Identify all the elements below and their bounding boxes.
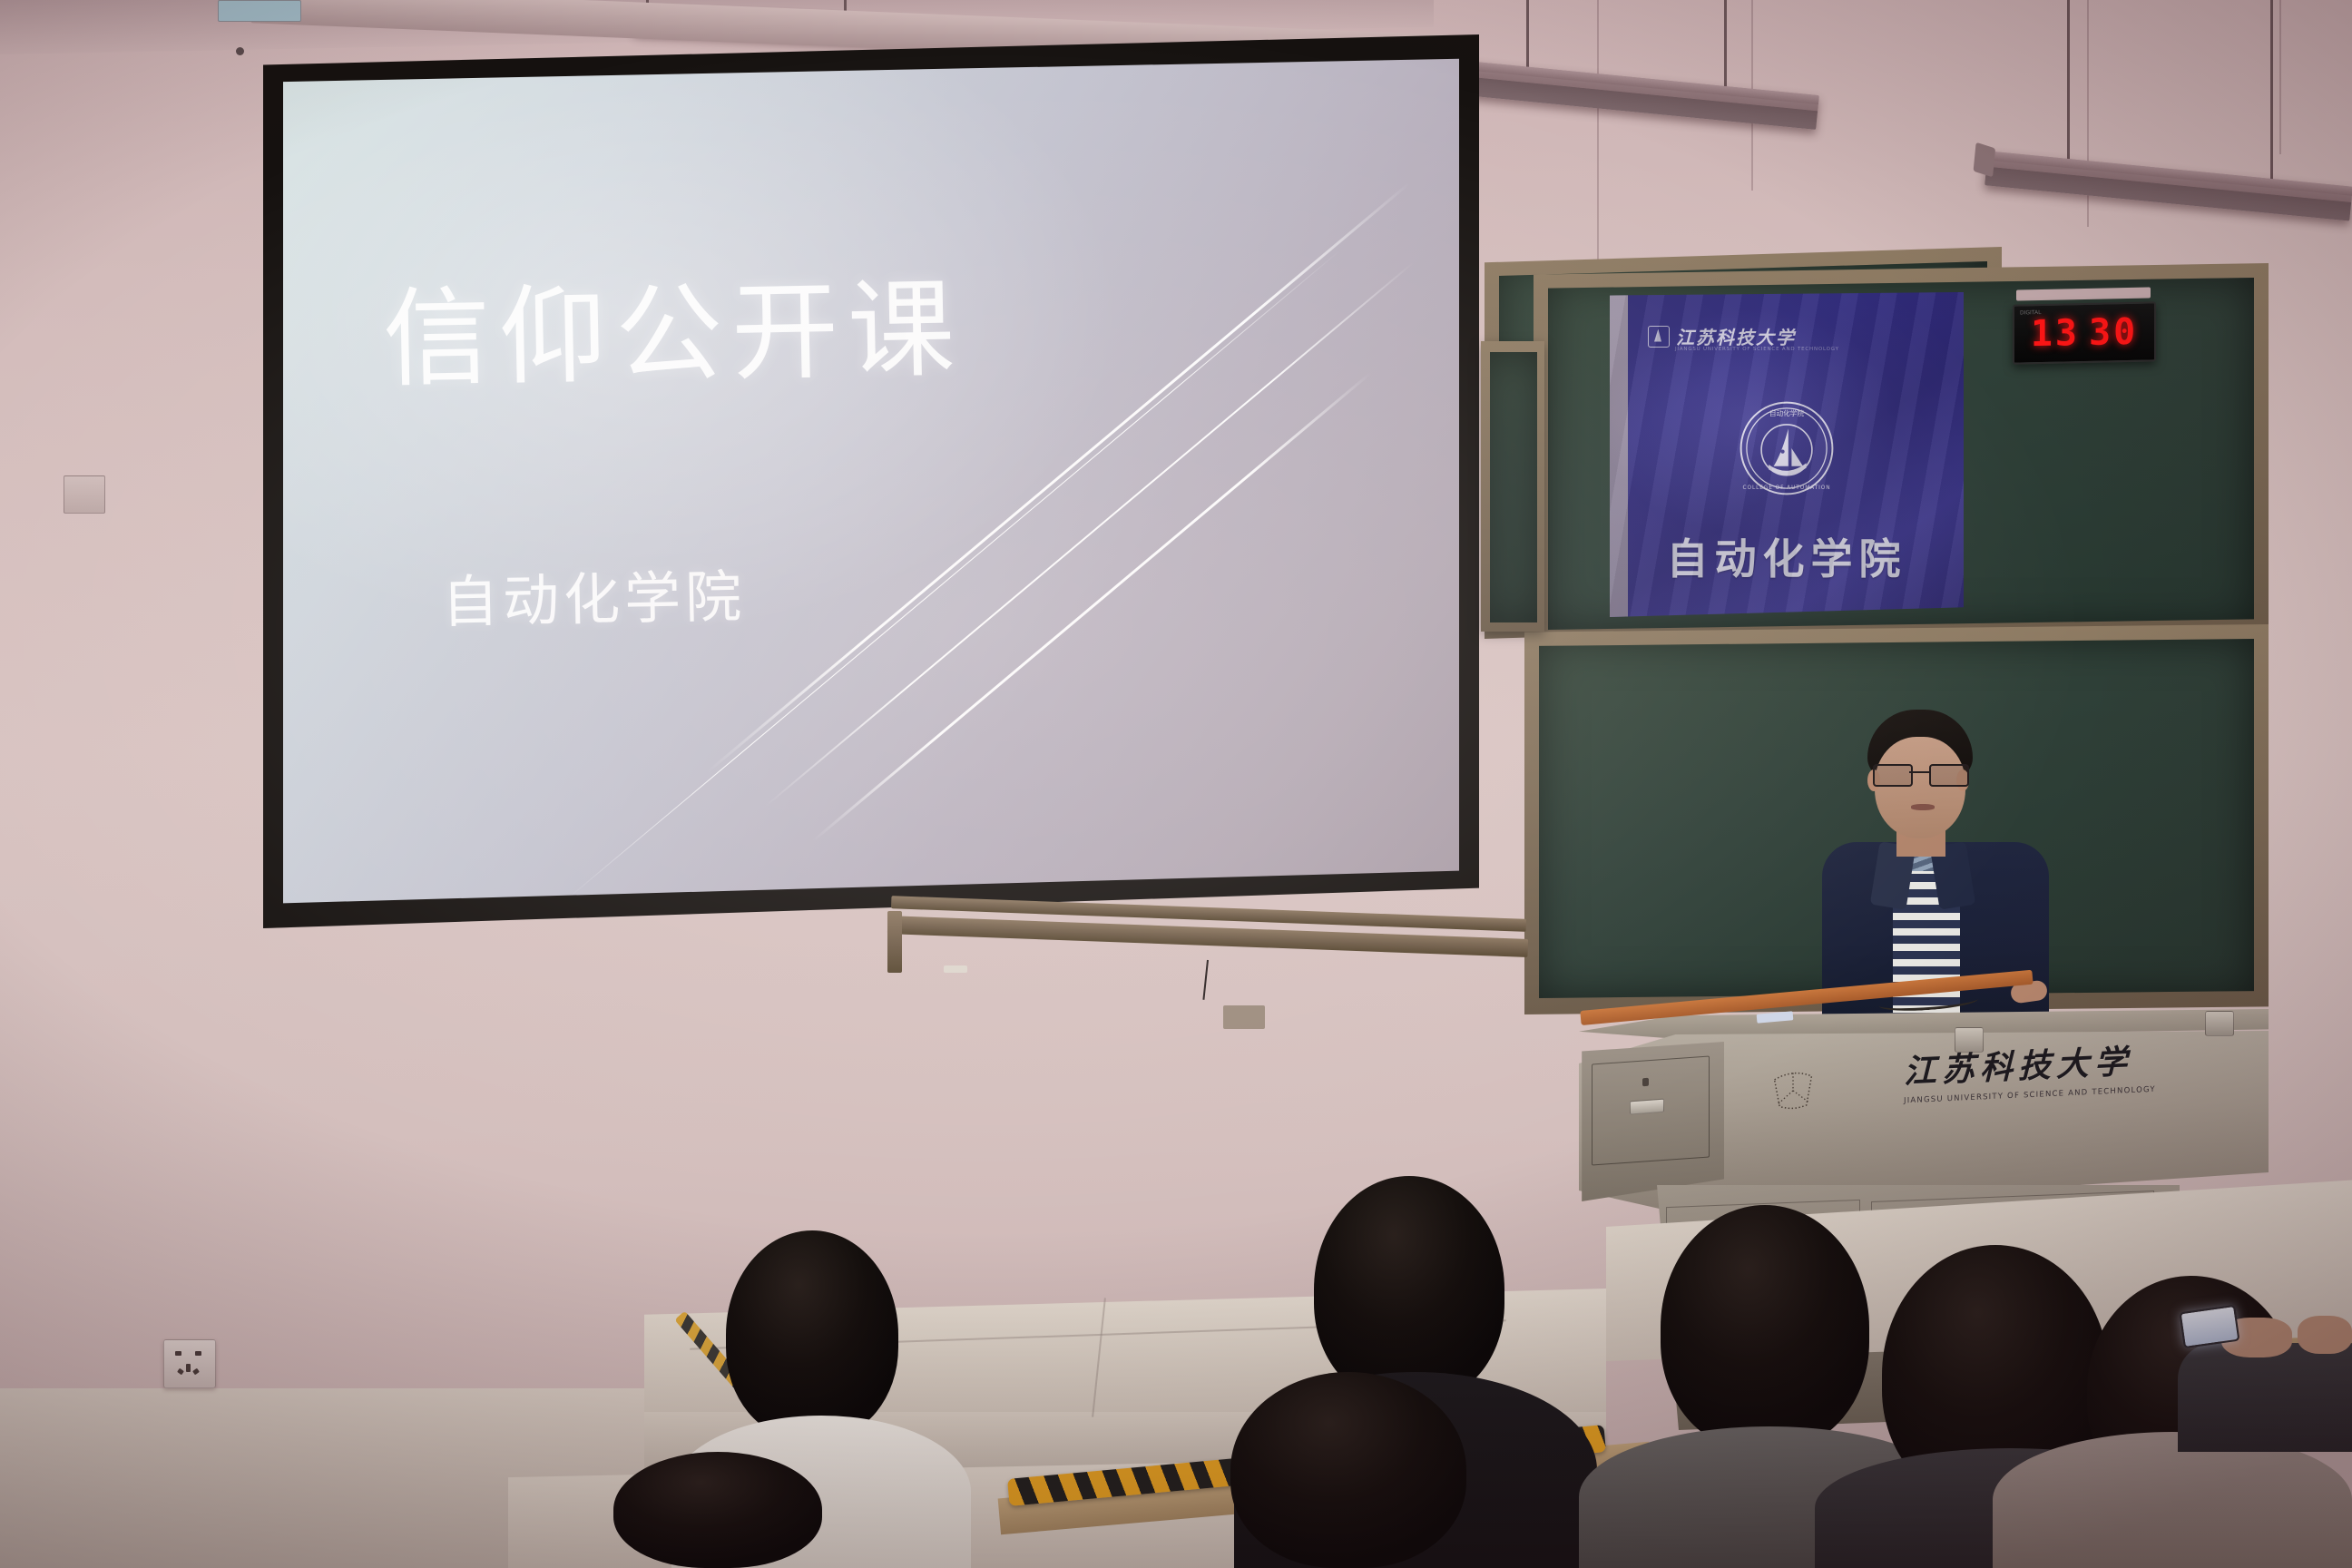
audience-head <box>1314 1176 1504 1403</box>
svg-text:COLLEGE OF AUTOMATION: COLLEGE OF AUTOMATION <box>1743 485 1831 491</box>
podium-knob-right[interactable] <box>2205 1011 2234 1036</box>
banner-university-name: 江苏科技大学 <box>1676 323 1796 349</box>
chalk-tray-left-post <box>887 911 902 973</box>
fixture-end-cap <box>1974 142 1996 178</box>
svg-text:自动化学院: 自动化学院 <box>1769 408 1805 417</box>
slide-light-streak <box>565 250 1341 900</box>
mobile-phone[interactable] <box>2180 1305 2240 1348</box>
lock-icon <box>1642 1078 1649 1086</box>
college-emblem-icon: 自动化学院 COLLEGE OF AUTOMATION <box>1738 399 1836 497</box>
lecture-hall-photo: 信仰公开课 自动化学院 江苏科技大学 JIANGSU UNIVERSITY OF… <box>0 0 2352 1568</box>
university-emblem-icon <box>1648 326 1670 348</box>
wall-seam <box>1597 0 1599 272</box>
slide-subtitle: 自动化学院 <box>441 551 747 638</box>
podium-university-logo: 江苏科技大学 JIANGSU UNIVERSITY OF SCIENCE AND… <box>1904 1034 2158 1106</box>
audience-head <box>1661 1205 1869 1450</box>
audience-head <box>726 1230 898 1439</box>
wall-seam <box>2279 0 2281 154</box>
glasses-icon <box>1873 764 1967 784</box>
banner-department-name: 自动化学院 <box>1667 526 1907 586</box>
presenter-face <box>1875 737 1965 838</box>
phone-user-hand <box>2298 1316 2352 1354</box>
wall-plate-upper <box>218 0 301 22</box>
slide-light-streak <box>765 262 1415 808</box>
blackboard-mid-panel <box>1490 352 1537 622</box>
podium-drawer-handle[interactable] <box>1630 1099 1664 1115</box>
power-outlet[interactable] <box>163 1339 216 1388</box>
clock-brand-label: DIGITAL <box>2020 309 2041 316</box>
chalk-stub <box>944 965 967 973</box>
phone-user-arm <box>2178 1343 2352 1452</box>
slide-light-streak <box>811 372 1371 842</box>
clock-minutes: 30 <box>2089 311 2138 354</box>
presenter-mouth <box>1911 804 1935 810</box>
glasses-bridge <box>1909 771 1931 773</box>
light-suspension-rod <box>2067 0 2070 174</box>
audience-head <box>613 1452 822 1568</box>
projected-slide: 信仰公开课 自动化学院 <box>283 54 1459 908</box>
projector-screen-assembly: 信仰公开课 自动化学院 <box>263 34 1479 928</box>
light-switch-plate[interactable] <box>64 475 105 514</box>
outlet-slot-top-right <box>195 1351 201 1356</box>
banner-strap <box>1610 292 1628 617</box>
glasses-lens-left <box>1873 764 1913 787</box>
outlet-slot-top-left <box>175 1351 181 1356</box>
slide-title: 信仰公开课 <box>382 241 965 407</box>
audience-shoulders <box>1993 1432 2352 1568</box>
banner-university-name-en: JIANGSU UNIVERSITY OF SCIENCE AND TECHNO… <box>1675 347 1839 352</box>
light-suspension-rod <box>2270 0 2273 198</box>
chalk-box <box>1223 1005 1265 1029</box>
clock-hours: 13 <box>2031 312 2080 355</box>
slide-light-streak <box>706 182 1410 774</box>
glasses-lens-right <box>1929 764 1969 787</box>
banner-university-logo: 江苏科技大学 <box>1648 323 1796 349</box>
outlet-slot-left <box>177 1368 184 1376</box>
department-banner: 江苏科技大学 JIANGSU UNIVERSITY OF SCIENCE AND… <box>1610 292 1964 617</box>
speaker-grille-icon <box>1768 1064 1818 1114</box>
digital-wall-clock: DIGITAL 13 30 <box>2013 301 2156 364</box>
outlet-slot-bottom <box>186 1364 191 1372</box>
outlet-slot-right <box>192 1368 200 1376</box>
audience-head <box>1230 1372 1466 1568</box>
ceiling-sensor-dot <box>236 47 244 55</box>
